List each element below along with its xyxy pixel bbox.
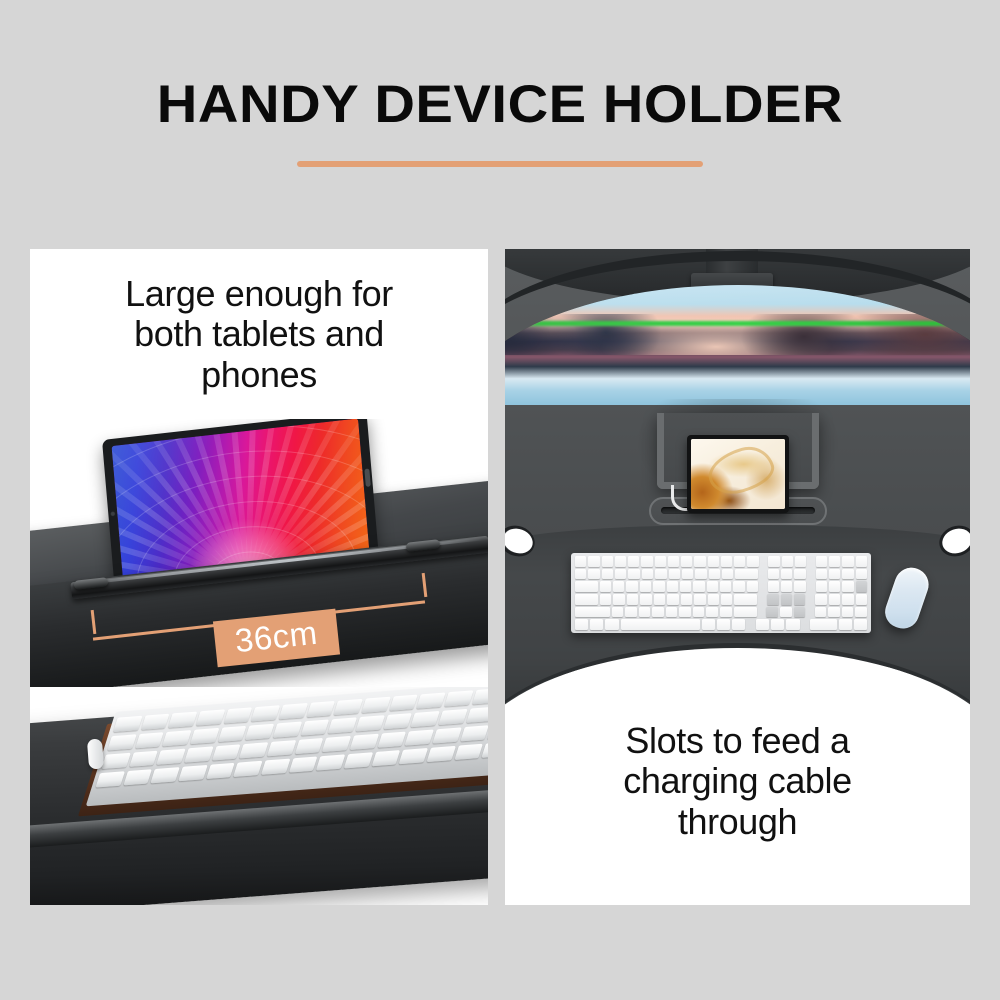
caption-line: Slots to feed a <box>527 721 948 761</box>
caption-line: both tablets and <box>48 314 470 354</box>
left-panel-photo: 36cm <box>30 419 488 905</box>
keyboard-row <box>575 569 867 580</box>
page-title: HANDY DEVICE HOLDER <box>0 74 1000 135</box>
title-divider <box>297 161 703 167</box>
keyboard-edge-knob <box>87 738 104 769</box>
tablet-screen-right <box>691 439 785 509</box>
keyboard-topdown <box>571 553 871 633</box>
left-panel-caption: Large enough for both tablets and phones <box>30 274 488 395</box>
keyboard-row <box>575 607 867 618</box>
header: HANDY DEVICE HOLDER <box>0 0 1000 200</box>
caption-line: through <box>527 802 948 842</box>
camera-icon <box>110 511 115 517</box>
feature-panel-left: Large enough for both tablets and phones <box>30 249 488 905</box>
feature-panel-right: Slots to feed a charging cable through <box>505 249 970 905</box>
keyboard-row <box>575 594 867 605</box>
caption-line: phones <box>48 355 470 395</box>
tablet-device-right <box>687 435 789 513</box>
tablet-in-slot-scene: 36cm <box>30 419 488 689</box>
right-panel-caption: Slots to feed a charging cable through <box>505 721 970 842</box>
right-panel-photo <box>505 249 970 711</box>
keyboard-row <box>575 581 867 592</box>
power-button <box>364 468 371 486</box>
caption-line: charging cable <box>527 761 948 801</box>
caption-line: Large enough for <box>48 274 470 314</box>
size-badge-label: 36cm <box>233 616 319 657</box>
keyboard-row <box>575 556 867 567</box>
keyboard-row <box>575 619 867 630</box>
keyboard-on-desk-scene <box>30 687 488 905</box>
